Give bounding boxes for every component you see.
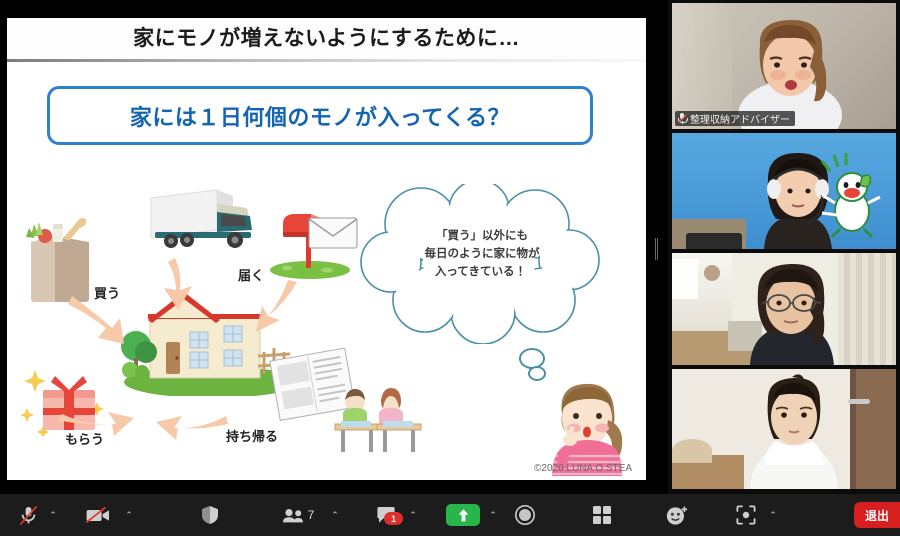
chat-unread-badge: 1 (384, 512, 403, 525)
thought-bubble: 「買う」以外にも 毎日のように家に物が 入ってきている ！ (359, 184, 605, 344)
breakout-options-caret[interactable]: ⌃ (764, 494, 782, 536)
bubble-line-3: 入ってきている ！ (359, 264, 605, 282)
chat-button[interactable]: 1 (366, 494, 406, 536)
video-button[interactable] (78, 494, 118, 536)
participants-count: 7 (308, 508, 315, 522)
participants-options-caret[interactable]: ⌃ (326, 494, 344, 536)
reactions-button[interactable] (655, 494, 699, 536)
chevron-up-icon: ⌃ (49, 511, 57, 520)
panel-drag-handle[interactable] (655, 238, 659, 260)
participant-tile-2[interactable] (672, 133, 896, 249)
apps-grid-icon (592, 505, 612, 525)
video-off-icon (85, 506, 111, 524)
video-options-caret[interactable]: ⌃ (120, 494, 138, 536)
bubble-line-2: 毎日のように家に物が (359, 246, 605, 264)
participant-filmstrip: 整理収納アドバイザー (668, 0, 900, 494)
record-button[interactable] (505, 494, 545, 536)
presentation-slide: 家にモノが増えないようにするために… 家には１日何個のモノが入ってくる？ (7, 18, 646, 480)
participant-video-3 (672, 253, 896, 365)
audio-mute-button[interactable] (10, 494, 46, 536)
participant-video-4 (672, 369, 896, 489)
shared-screen-stage[interactable]: 家にモノが増えないようにするために… 家には１日何個のモノが入ってくる？ (0, 0, 668, 494)
participant-tile-3[interactable] (672, 253, 896, 365)
bubble-line-1: 「買う」以外にも (359, 228, 605, 246)
thinking-girl-illustration (540, 370, 636, 478)
chevron-up-icon: ⌃ (769, 511, 777, 520)
chevron-up-icon: ⌃ (489, 511, 497, 520)
record-icon (514, 504, 536, 526)
meeting-toolbar: ⌃ ⌃ 7 (0, 494, 900, 536)
participant-name-1: 整理収納アドバイザー (690, 111, 790, 126)
thought-bubble-text: 「買う」以外にも 毎日のように家に物が 入ってきている ！ (359, 228, 605, 281)
audio-options-caret[interactable]: ⌃ (44, 494, 62, 536)
slide-title-bar: 家にモノが増えないようにするために… (7, 18, 646, 58)
slide-title-divider (7, 59, 646, 62)
apps-button[interactable] (582, 494, 622, 536)
reactions-smiley-icon (665, 505, 689, 526)
chat-options-caret[interactable]: ⌃ (404, 494, 422, 536)
participants-icon (282, 508, 304, 523)
zoom-meeting-window: 家にモノが増えないようにするために… 家には１日何個のモノが入ってくる？ (0, 0, 900, 536)
slide-question-text: 家には１日何個のモノが入ってくる？ (130, 100, 510, 132)
mic-muted-icon (678, 113, 686, 124)
shield-icon (201, 505, 219, 525)
security-button[interactable] (190, 494, 230, 536)
participant-nameplate-1: 整理収納アドバイザー (675, 111, 795, 126)
share-options-caret[interactable]: ⌃ (484, 494, 502, 536)
share-screen-icon (446, 504, 480, 526)
chevron-up-icon: ⌃ (125, 511, 133, 520)
share-screen-button[interactable] (440, 494, 486, 536)
slide-question-box: 家には１日何個のモノが入ってくる？ (47, 86, 593, 145)
participants-button[interactable]: 7 (272, 494, 324, 536)
chevron-up-icon: ⌃ (409, 511, 417, 520)
slide-title: 家にモノが増えないようにするために… (7, 22, 646, 52)
chevron-up-icon: ⌃ (331, 511, 339, 520)
slide-copyright: ©2020 LUNA O STEA (534, 463, 632, 474)
participant-tile-4[interactable] (672, 369, 896, 489)
breakout-rooms-button[interactable] (726, 494, 766, 536)
breakout-rooms-icon (736, 505, 756, 525)
participant-tile-1[interactable]: 整理収納アドバイザー (672, 3, 896, 129)
microphone-muted-icon (19, 505, 38, 526)
participant-video-2 (672, 133, 896, 249)
leave-meeting-button[interactable]: 退出 (854, 502, 900, 528)
